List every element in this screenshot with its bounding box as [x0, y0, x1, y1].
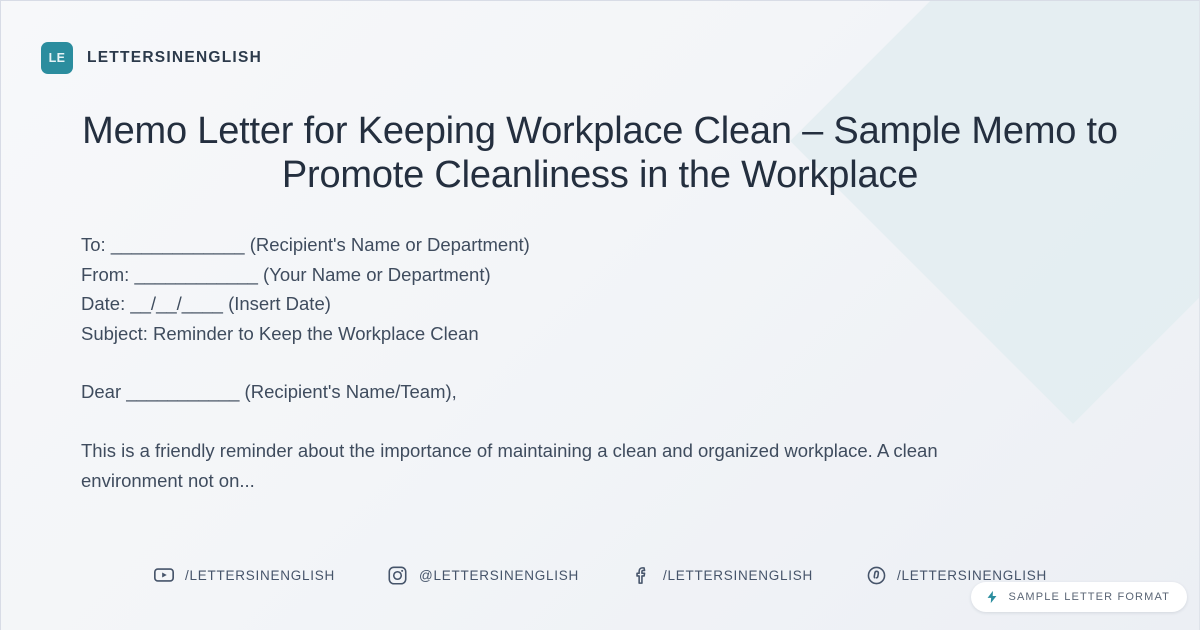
social-item-facebook[interactable]: /LETTERSINENGLISH	[631, 564, 813, 586]
instagram-icon	[387, 564, 409, 586]
letter-paragraph: This is a friendly reminder about the im…	[81, 436, 986, 495]
share-card: LE LETTERSINENGLISH Memo Letter for Keep…	[0, 0, 1200, 630]
brand-name: LETTERSINENGLISH	[87, 49, 262, 67]
social-label: /LETTERSINENGLISH	[185, 568, 335, 583]
page-title: Memo Letter for Keeping Workplace Clean …	[81, 109, 1119, 197]
youtube-icon	[153, 564, 175, 586]
spacer	[81, 407, 1041, 436]
facebook-icon	[631, 564, 653, 586]
letter-subject-line: Subject: Reminder to Keep the Workplace …	[81, 319, 1041, 349]
social-item-instagram[interactable]: @LETTERSINENGLISH	[387, 564, 579, 586]
social-label: /LETTERSINENGLISH	[897, 568, 1047, 583]
letter-salutation: Dear ___________ (Recipient's Name/Team)…	[81, 377, 1041, 407]
brand-badge-icon: LE	[41, 42, 73, 74]
letter-date-line: Date: __/__/____ (Insert Date)	[81, 289, 1041, 319]
letter-body: To: _____________ (Recipient's Name or D…	[81, 230, 1041, 495]
spacer	[81, 348, 1041, 377]
social-label: /LETTERSINENGLISH	[663, 568, 813, 583]
badge-label: SAMPLE LETTER FORMAT	[1008, 591, 1170, 603]
letter-from-line: From: ____________ (Your Name or Departm…	[81, 260, 1041, 290]
letter-to-line: To: _____________ (Recipient's Name or D…	[81, 230, 1041, 260]
social-item-youtube[interactable]: /LETTERSINENGLISH	[153, 564, 335, 586]
lightning-bolt-icon	[985, 589, 999, 605]
brand-logo[interactable]: LE LETTERSINENGLISH	[41, 42, 262, 74]
social-label: @LETTERSINENGLISH	[419, 568, 579, 583]
pinterest-icon	[865, 564, 887, 586]
sample-letter-format-badge[interactable]: SAMPLE LETTER FORMAT	[971, 582, 1187, 612]
